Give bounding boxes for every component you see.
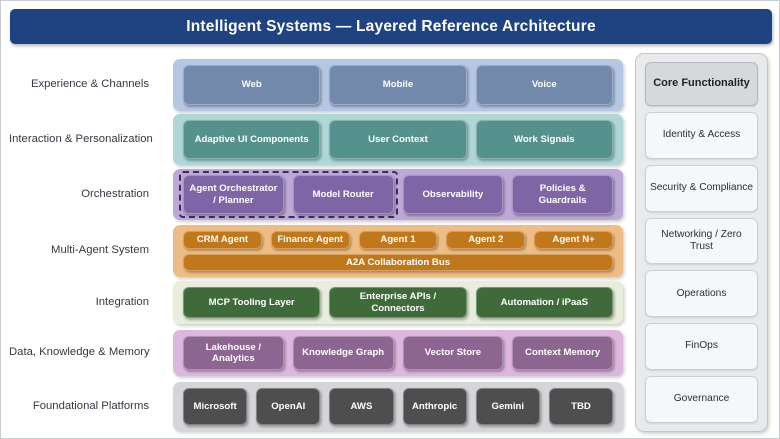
core-functionality-item-0[interactable]: Identity & Access [645, 112, 758, 159]
layer-band-1: Adaptive UI ComponentsUser ContextWork S… [173, 114, 623, 165]
layer-band-0: WebMobileVoice [173, 59, 623, 111]
layer-band-2: Agent Orchestrator / PlannerModel Router… [173, 169, 623, 220]
page-title: Intelligent Systems — Layered Reference … [186, 18, 596, 36]
tile-6-2[interactable]: AWS [329, 388, 393, 425]
layer-tiles-3: CRM AgentFinance AgentAgent 1Agent 2Agen… [183, 231, 613, 271]
layer-tiles-2: Agent Orchestrator / PlannerModel Router… [183, 175, 613, 214]
tile-3-4[interactable]: Agent N+ [534, 231, 613, 249]
core-functionality-item-4[interactable]: FinOps [645, 323, 758, 370]
tile-6-1[interactable]: OpenAI [256, 388, 320, 425]
tile-2-0[interactable]: Agent Orchestrator / Planner [183, 175, 284, 214]
layer-band-5: Lakehouse / AnalyticsKnowledge GraphVect… [173, 330, 623, 376]
collaboration-bus-3[interactable]: A2A Collaboration Bus [183, 254, 613, 271]
layer-tiles-5: Lakehouse / AnalyticsKnowledge GraphVect… [183, 336, 613, 370]
core-functionality-item-5[interactable]: Governance [645, 376, 758, 423]
tile-5-3[interactable]: Context Memory [512, 336, 613, 370]
tile-4-2[interactable]: Automation / iPaaS [476, 287, 613, 318]
core-functionality-item-1[interactable]: Security & Compliance [645, 165, 758, 212]
layer-band-4: MCP Tooling LayerEnterprise APIs / Conne… [173, 281, 623, 324]
tile-row-3: CRM AgentFinance AgentAgent 1Agent 2Agen… [183, 231, 613, 249]
tile-5-2[interactable]: Vector Store [403, 336, 504, 370]
tile-2-2[interactable]: Observability [403, 175, 504, 214]
tile-5-0[interactable]: Lakehouse / Analytics [183, 336, 284, 370]
tile-4-0[interactable]: MCP Tooling Layer [183, 287, 320, 318]
layer-tiles-0: WebMobileVoice [183, 65, 613, 105]
layer-label-0: Experience & Channels [9, 78, 149, 91]
tile-2-1[interactable]: Model Router [293, 175, 394, 214]
tile-1-1[interactable]: User Context [329, 120, 466, 159]
layer-label-4: Integration [9, 296, 149, 309]
tile-0-1[interactable]: Mobile [329, 65, 466, 105]
tile-4-1[interactable]: Enterprise APIs / Connectors [329, 287, 466, 318]
layer-label-6: Foundational Platforms [9, 400, 149, 413]
tile-5-1[interactable]: Knowledge Graph [293, 336, 394, 370]
tile-0-0[interactable]: Web [183, 65, 320, 105]
tile-2-3[interactable]: Policies & Guardrails [512, 175, 613, 214]
tile-3-3[interactable]: Agent 2 [446, 231, 525, 249]
diagram-canvas: Intelligent Systems — Layered Reference … [0, 0, 780, 439]
layer-label-2: Orchestration [9, 188, 149, 201]
tile-3-0[interactable]: CRM Agent [183, 231, 262, 249]
tile-1-2[interactable]: Work Signals [476, 120, 613, 159]
layer-tiles-4: MCP Tooling LayerEnterprise APIs / Conne… [183, 287, 613, 318]
core-functionality-heading: Core Functionality [645, 62, 758, 106]
tile-3-2[interactable]: Agent 1 [359, 231, 438, 249]
diagram-title-bar: Intelligent Systems — Layered Reference … [10, 9, 772, 44]
core-functionality-item-3[interactable]: Operations [645, 270, 758, 317]
layer-band-6: MicrosoftOpenAIAWSAnthropicGeminiTBD [173, 382, 623, 431]
tile-6-0[interactable]: Microsoft [183, 388, 247, 425]
layer-tiles-1: Adaptive UI ComponentsUser ContextWork S… [183, 120, 613, 159]
tile-0-2[interactable]: Voice [476, 65, 613, 105]
layer-label-3: Multi-Agent System [9, 244, 149, 257]
tile-3-1[interactable]: Finance Agent [271, 231, 350, 249]
tile-6-4[interactable]: Gemini [476, 388, 540, 425]
core-functionality-panel: Core Functionality Identity & AccessSecu… [635, 53, 768, 432]
core-functionality-item-2[interactable]: Networking / Zero Trust [645, 218, 758, 265]
layer-label-5: Data, Knowledge & Memory [9, 346, 149, 359]
layer-label-1: Interaction & Personalization [9, 133, 149, 146]
tile-6-5[interactable]: TBD [549, 388, 613, 425]
tile-1-0[interactable]: Adaptive UI Components [183, 120, 320, 159]
layer-tiles-6: MicrosoftOpenAIAWSAnthropicGeminiTBD [183, 388, 613, 425]
tile-6-3[interactable]: Anthropic [403, 388, 467, 425]
layer-band-3: CRM AgentFinance AgentAgent 1Agent 2Agen… [173, 225, 623, 277]
